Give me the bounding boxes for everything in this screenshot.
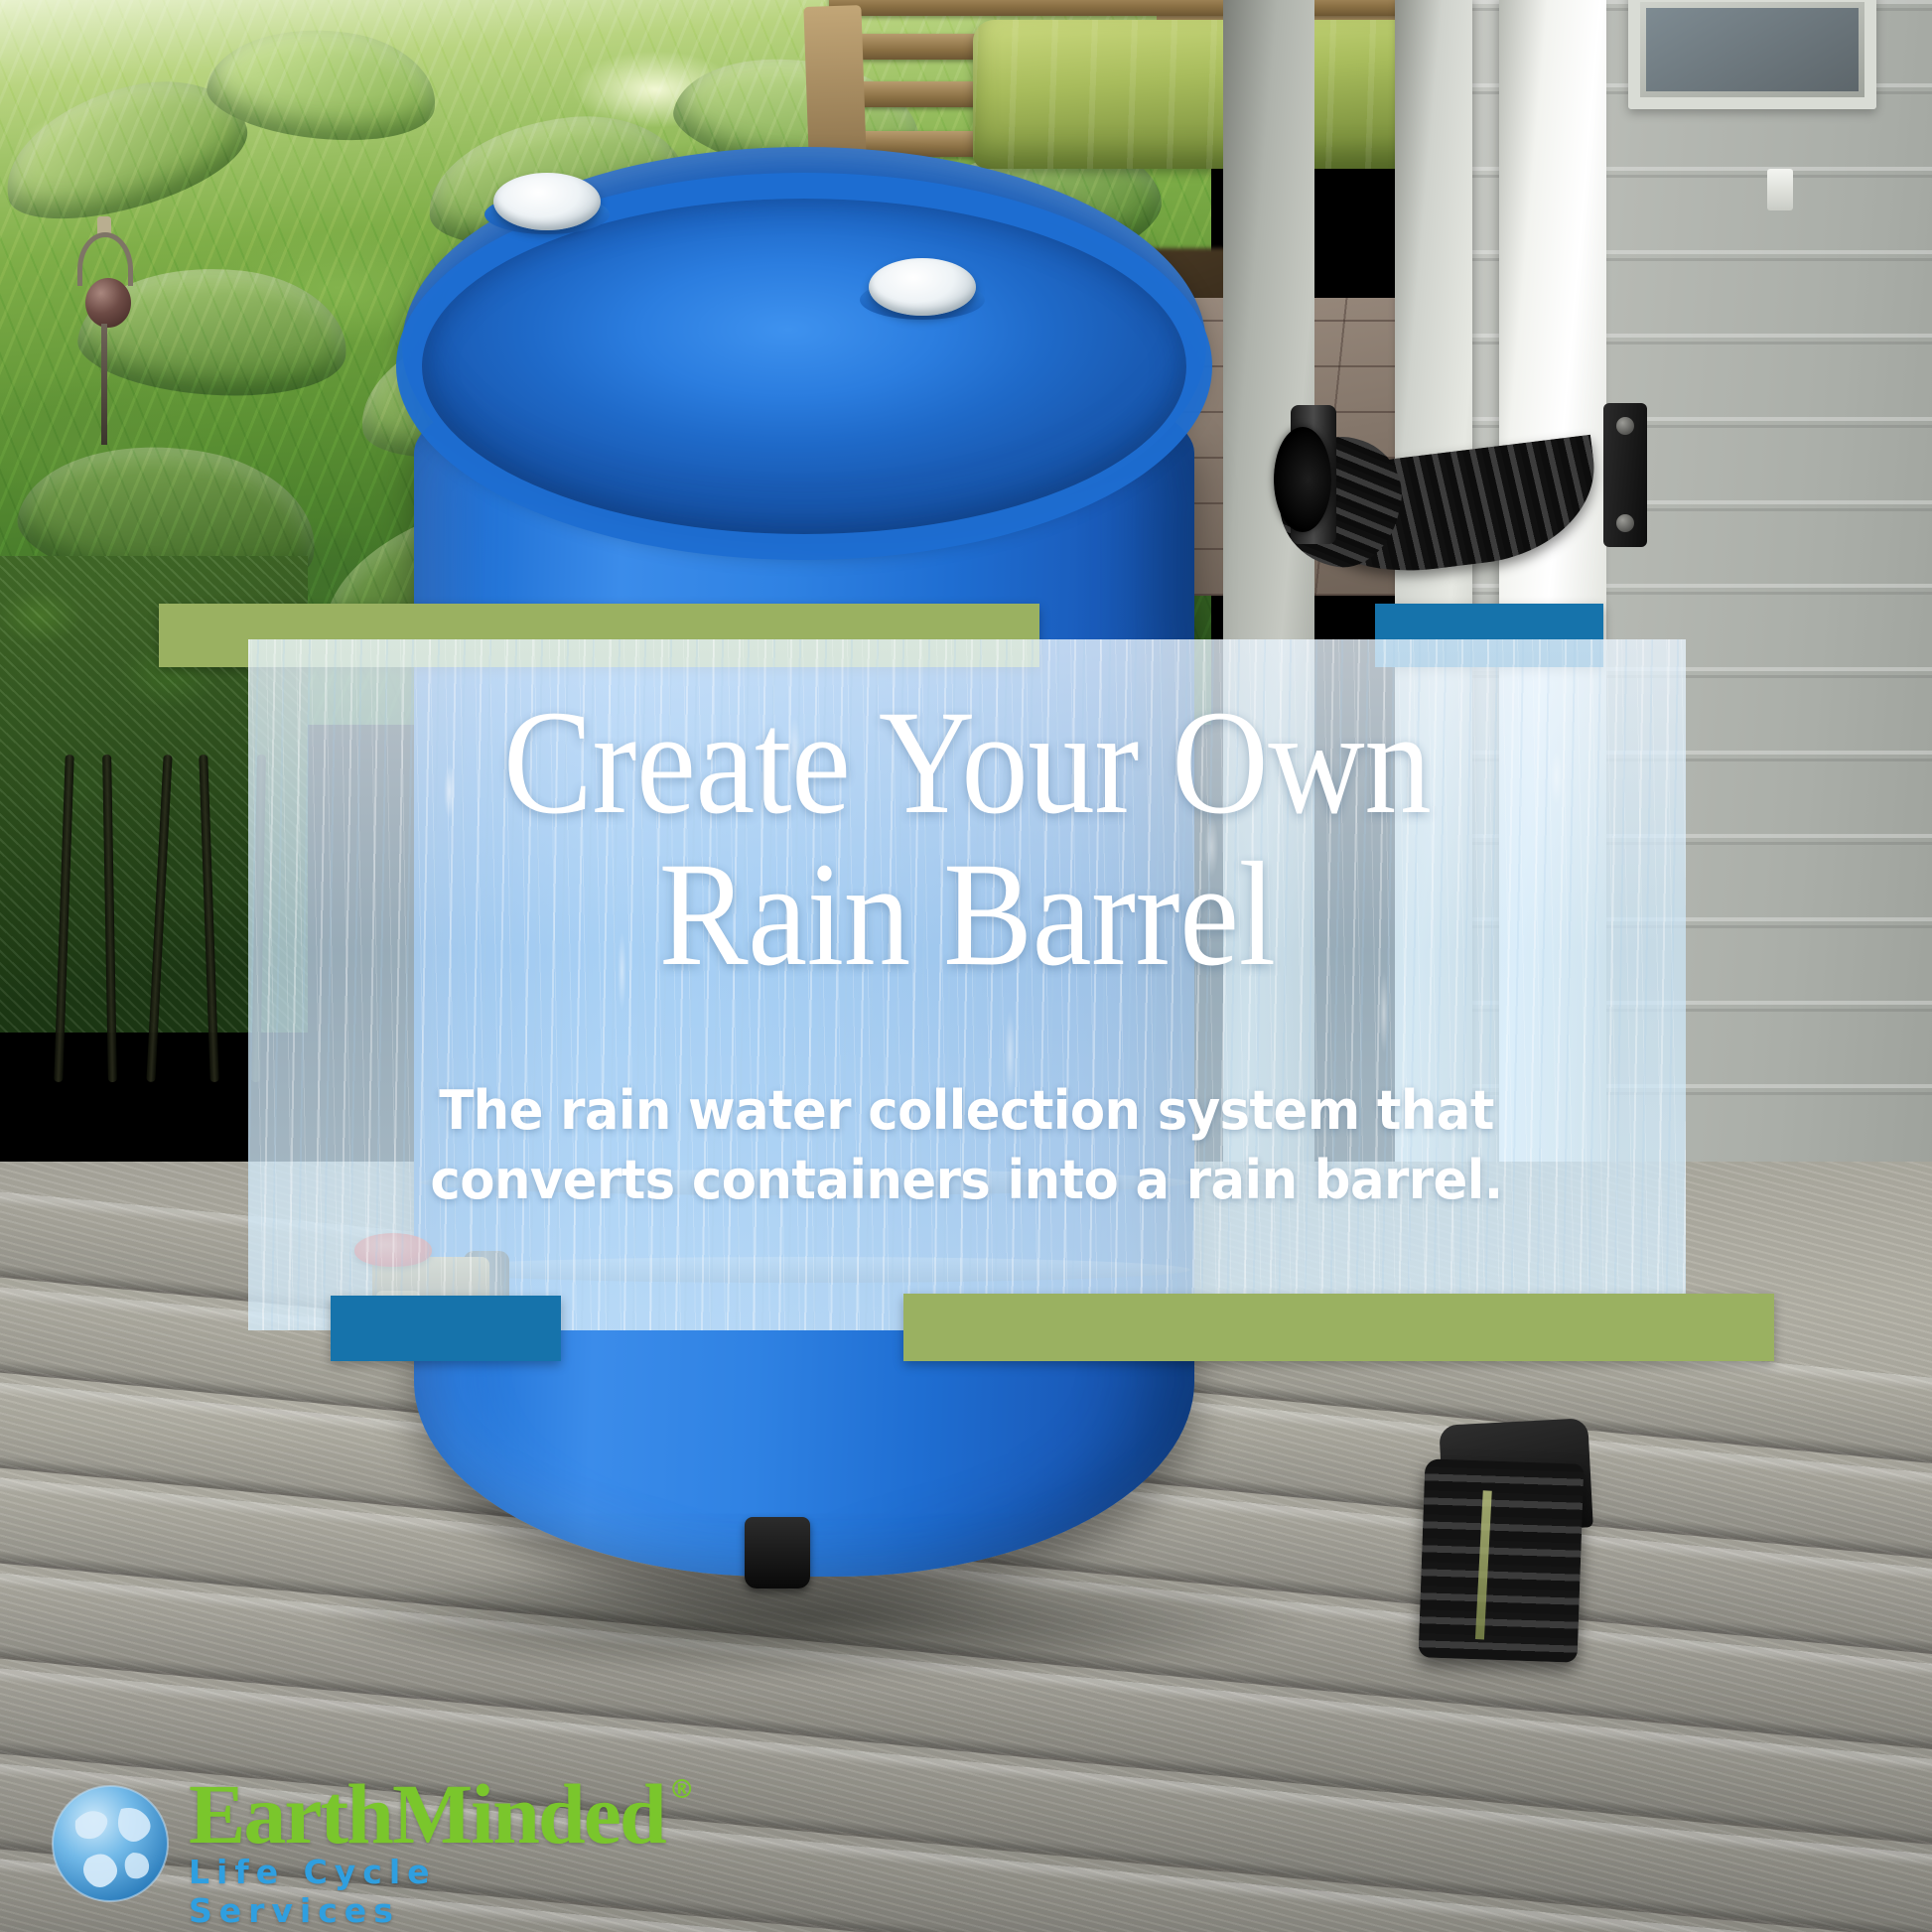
logo-wordmark: EarthMinded® Life Cycle Services bbox=[189, 1771, 665, 1930]
barrel-drain-plug bbox=[745, 1517, 810, 1588]
earthminded-logo[interactable]: EarthMinded® Life Cycle Services bbox=[48, 1775, 663, 1914]
page-subtitle: The rain water collection system that co… bbox=[431, 1076, 1503, 1215]
wall-clip bbox=[1767, 169, 1793, 210]
poster-canvas: Create Your Own Rain Barrel The rain wat… bbox=[0, 0, 1932, 1932]
hose-wall-bracket bbox=[1603, 403, 1647, 547]
registered-trademark-icon: ® bbox=[669, 1775, 695, 1805]
globe-icon bbox=[48, 1781, 173, 1906]
house-window-frame bbox=[1628, 0, 1876, 109]
logo-tagline: Life Cycle Services bbox=[189, 1853, 665, 1930]
page-title: Create Your Own Rain Barrel bbox=[503, 687, 1431, 991]
headline-block: Create Your Own Rain Barrel The rain wat… bbox=[248, 639, 1686, 1330]
garden-finial-ornament bbox=[71, 216, 129, 445]
downspout-elbow bbox=[1419, 1458, 1585, 1662]
barrel-cap bbox=[493, 173, 601, 230]
barrel-cap bbox=[869, 258, 976, 316]
logo-name: EarthMinded bbox=[189, 1771, 665, 1857]
hose-barrel-flange bbox=[1274, 427, 1331, 532]
